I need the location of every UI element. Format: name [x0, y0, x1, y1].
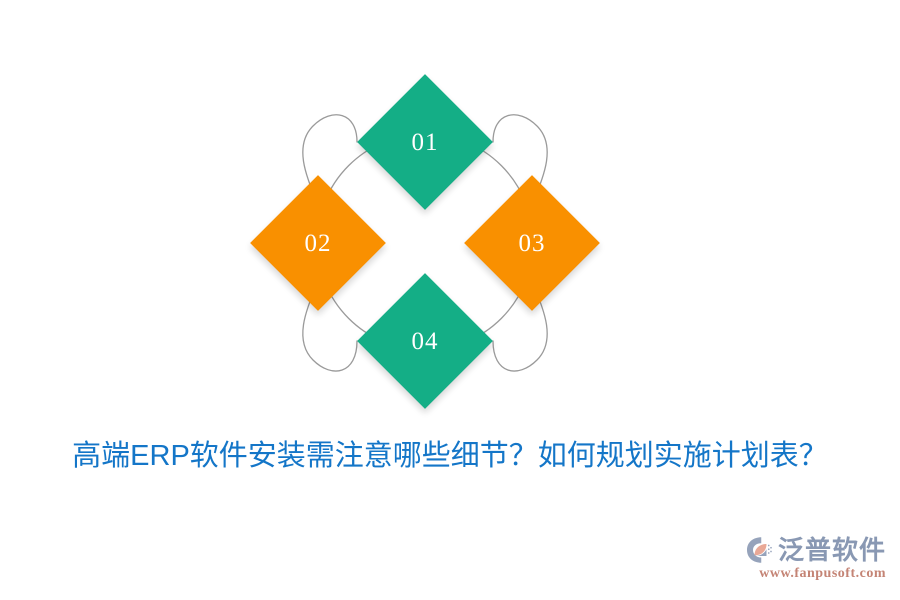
diagram-node-02-label: 02: [305, 231, 332, 256]
brand-logo: 泛普软件 www.fanpusoft.com: [744, 535, 886, 582]
screenshot-canvas: 01 02 03 04 高端ERP软件安装需注意哪些细节？如何规划实施计划表？: [0, 0, 900, 600]
brand-logo-url: www.fanpusoft.com: [759, 566, 886, 582]
diagram-node-01-label: 01: [412, 130, 439, 155]
page-title: 高端ERP软件安装需注意哪些细节？如何规划实施计划表？: [0, 428, 900, 484]
fanpu-logo-icon: [744, 535, 774, 565]
brand-logo-name: 泛普软件: [778, 535, 886, 565]
diagram-node-03-label: 03: [519, 231, 546, 256]
brand-logo-row: 泛普软件: [744, 535, 886, 565]
diagram-node-04-label: 04: [412, 329, 439, 354]
four-step-diagram: 01 02 03 04: [0, 0, 900, 430]
